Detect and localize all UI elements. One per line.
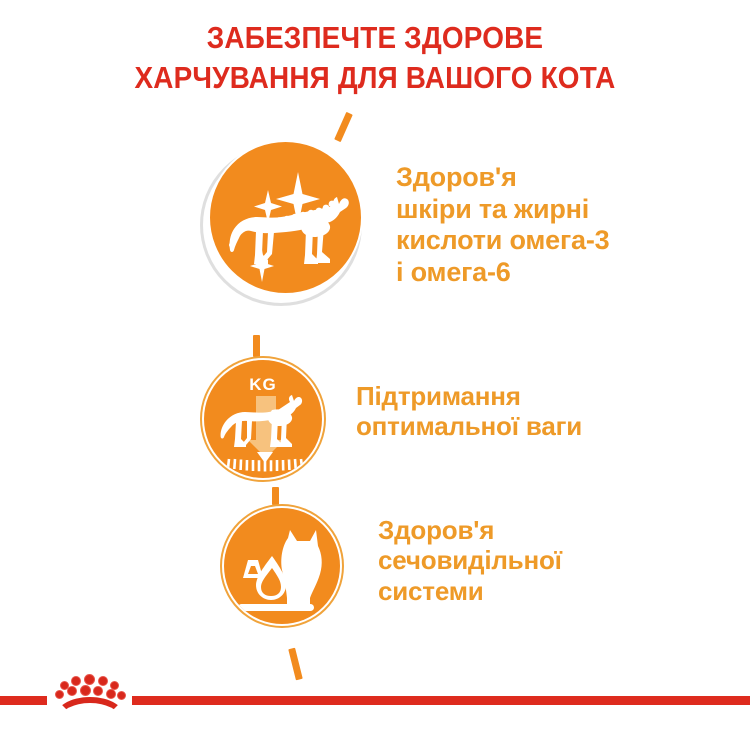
cat-urinary-droplet-glyph <box>224 508 340 624</box>
connector-dash-1-2 <box>253 335 260 357</box>
benefit-icon-3[interactable] <box>218 505 348 635</box>
benefit-icon-2[interactable]: KG <box>198 357 328 487</box>
royal-canin-crown-logo <box>46 672 134 712</box>
walking-cat-sparkle-glyph <box>210 142 363 295</box>
benefit-icon-1[interactable] <box>200 140 370 310</box>
footer-rule-right <box>132 696 750 705</box>
crown-arc <box>54 697 126 719</box>
footer-rule-left <box>0 696 47 705</box>
benefit-row-3: Здоров'я сечовидільної системи <box>0 505 750 635</box>
footer-bar <box>0 694 750 706</box>
connector-dash-top <box>334 112 353 142</box>
page-title: ЗАБЕЗПЕЧТЕ ЗДОРОВЕ ХАРЧУВАННЯ ДЛЯ ВАШОГО… <box>38 18 713 97</box>
walking-cat-sparkle-icon <box>208 140 363 295</box>
benefit-label-2: Підтримання оптимальної ваги <box>356 381 716 442</box>
benefit-label-3: Здоров'я сечовидільної системи <box>378 515 718 606</box>
promo-banner: ЗАБЕЗПЕЧТЕ ЗДОРОВЕ ХАРЧУВАННЯ ДЛЯ ВАШОГО… <box>0 0 750 750</box>
connector-dash-bottom <box>288 648 303 681</box>
cat-weight-scale-icon: KG <box>204 360 322 478</box>
cat-urinary-droplet-icon <box>224 508 340 624</box>
cat-weight-scale-glyph: KG <box>204 360 322 478</box>
benefit-row-2: KG <box>0 357 750 487</box>
benefit-label-1: Здоров'я шкіри та жирні кислоти омега-3 … <box>396 162 736 288</box>
connector-dash-2-3 <box>272 487 279 505</box>
benefit-row-1: Здоров'я шкіри та жирні кислоти омега-3 … <box>0 140 750 335</box>
svg-text:KG: KG <box>249 375 277 394</box>
